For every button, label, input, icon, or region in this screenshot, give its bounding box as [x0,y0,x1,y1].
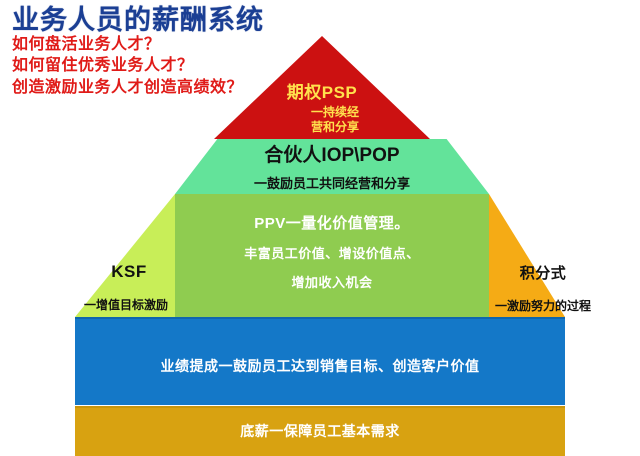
header-question-3: 创造激励业务人才创造高绩效？ [12,77,432,98]
header-question-2: 如何留住优秀业务人才？ [12,55,432,76]
header-question-1: 如何盘活业务人才？ [12,34,432,55]
pyramid-diagram-canvas: 业务人员的薪酬系统 如何盘活业务人才？ 如何留住优秀业务人才？ 创造激励业务人才… [0,0,640,456]
pyramid-layer-partner [175,139,489,194]
pyramid-layer-ppv [175,194,489,317]
page-title: 业务人员的薪酬系统 [12,6,432,34]
header-block: 业务人员的薪酬系统 如何盘活业务人才？ 如何留住优秀业务人才？ 创造激励业务人才… [12,6,432,98]
pyramid-layer-ksf [75,194,175,317]
pyramid-layer-commission [75,317,565,405]
pyramid-layer-base-salary [75,406,565,456]
pyramid-layer-points [489,194,565,317]
